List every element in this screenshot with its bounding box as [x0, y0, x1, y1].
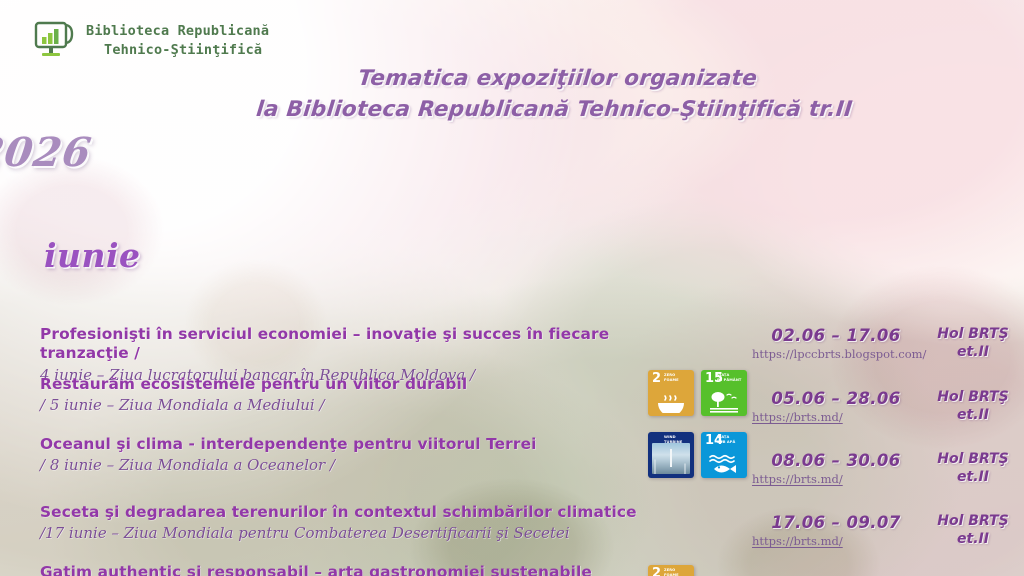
event-url[interactable]: https://brts.md/ [752, 410, 843, 424]
tree-birds-icon [701, 389, 747, 413]
event-schedule: 05.06 – 28.06https://brts.md/Hol BRTŞet.… [752, 389, 1020, 426]
event-title: Oceanul şi clima - interdependenţe pentr… [40, 435, 640, 454]
event-schedule: 02.06 – 17.06https://lpccbrts.blogspot.c… [752, 326, 1020, 363]
location-line-2: et.II [928, 531, 1018, 549]
event-dates: 05.06 – 28.06 [752, 389, 920, 408]
library-logo: Biblioteca Republicană Tehnico-Ştiinţifi… [32, 18, 1024, 64]
logo-line-1: Biblioteca Republicană [86, 23, 269, 39]
event-schedule: 08.06 – 30.06https://brts.md/Hol BRTŞet.… [752, 451, 1020, 488]
wind-turbine-photo [652, 443, 690, 474]
event-text: Seceta şi degradarea terenurilor în cont… [40, 503, 640, 544]
poster-title: Tematica expoziţiilor organizate la Bibl… [233, 64, 879, 125]
event-location: Hol BRTŞet.II [928, 513, 1018, 548]
event-location: Hol BRTŞet.II [928, 326, 1018, 361]
fish-waves-icon [701, 453, 747, 475]
event-url[interactable]: https://lpccbrts.blogspot.com/ [752, 347, 926, 361]
location-line-2: et.II [928, 344, 1018, 362]
bowl-icon [648, 393, 694, 413]
sdg-icon-2: 2ZEROFOAME [648, 565, 694, 576]
event-url[interactable]: https://brts.md/ [752, 534, 843, 548]
month-label: iunie [44, 236, 1024, 275]
event-text: Restaurăm ecosistemele pentru un viitor … [40, 375, 640, 416]
sdg-icon-15: 15VIAŢAPE PĂMÂNT [701, 370, 747, 416]
library-logo-text: Biblioteca Republicană Tehnico-Ştiinţifi… [86, 22, 269, 60]
sdg-icon-group: 2ZEROFOAME15VIAŢAPE PĂMÂNT [648, 370, 747, 416]
sdg-icon-photo: WINDTURBINE PHOTO [648, 432, 694, 478]
sdg-icon-group: 2ZEROFOAME [648, 565, 694, 576]
event-schedule: 17.06 – 09.07https://brts.md/Hol BRTŞet.… [752, 513, 1020, 550]
location-line-1: Hol BRTŞ [937, 326, 1008, 342]
event-subtitle: /17 iunie – Ziua Mondiala pentru Combate… [40, 524, 640, 544]
sdg-label: VIAŢASUB APĂ [717, 435, 745, 444]
title-line-2: la Biblioteca Republicană Tehnico-Ştiinţ… [233, 95, 876, 126]
event-subtitle: / 8 iunie – Ziua Mondiala a Oceanelor / [40, 456, 640, 476]
event-url[interactable]: https://brts.md/ [752, 472, 843, 486]
event-title: Restaurăm ecosistemele pentru un viitor … [40, 375, 640, 394]
sdg-icon-14: 14VIAŢASUB APĂ [701, 432, 747, 478]
location-line-1: Hol BRTŞ [937, 451, 1008, 467]
event-dates: 02.06 – 17.06 [752, 326, 920, 345]
event-location: Hol BRTŞet.II [928, 451, 1018, 486]
sdg-number: 2 [652, 567, 661, 576]
sdg-number: 2 [652, 372, 661, 385]
location-line-1: Hol BRTŞ [937, 389, 1008, 405]
event-dates: 08.06 – 30.06 [752, 451, 920, 470]
title-line-1: Tematica expoziţiilor organizate [357, 66, 759, 91]
event-location: Hol BRTŞet.II [928, 389, 1018, 424]
sdg-label: ZEROFOAME [664, 568, 692, 576]
event-text: Oceanul şi clima - interdependenţe pentr… [40, 435, 640, 476]
location-line-2: et.II [928, 469, 1018, 487]
event-text: Gatim authentic şi responsabil – arta ga… [40, 563, 640, 576]
event-title: Gatim authentic şi responsabil – arta ga… [40, 563, 640, 576]
location-line-1: Hol BRTŞ [937, 513, 1008, 529]
sdg-label: VIAŢAPE PĂMÂNT [717, 373, 745, 382]
sdg-icon-group: WINDTURBINE PHOTO14VIAŢASUB APĂ [648, 432, 747, 478]
logo-line-2: Tehnico-Ştiinţifică [86, 41, 269, 60]
poster-canvas: Biblioteca Republicană Tehnico-Ştiinţifi… [0, 0, 1024, 576]
sdg-icon-2: 2ZEROFOAME [648, 370, 694, 416]
year-label: 2026 [0, 129, 1003, 176]
event-title: Profesionişti în serviciul economiei – i… [40, 325, 640, 364]
location-line-2: et.II [928, 407, 1018, 425]
event-dates: 17.06 – 09.07 [752, 513, 920, 532]
event-subtitle: / 5 iunie – Ziua Mondiala a Mediului / [40, 396, 640, 416]
monitor-barchart-icon [32, 18, 78, 64]
event-title: Seceta şi degradarea terenurilor în cont… [40, 503, 640, 522]
sdg-label: ZEROFOAME [664, 373, 692, 382]
